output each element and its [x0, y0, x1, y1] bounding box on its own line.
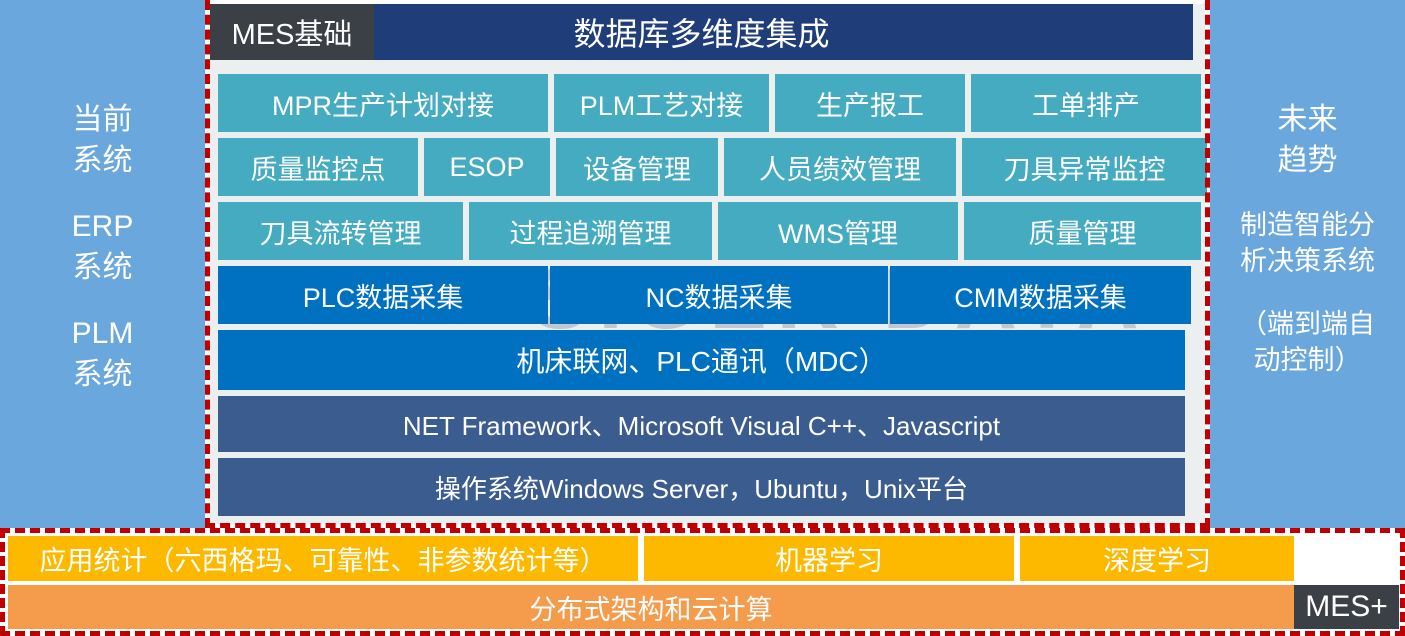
left-panel-line-3: ERP: [72, 207, 134, 248]
module-row-2: 质量监控点ESOP设备管理人员绩效管理刀具异常监控: [218, 138, 1213, 196]
right-panel-block-analysis: 制造智能分 析决策系统: [1240, 207, 1375, 280]
mes-plus-badge: MES+: [1294, 585, 1399, 629]
module-frameworks[interactable]: NET Framework、Microsoft Visual C++、Javas…: [218, 396, 1185, 452]
left-panel: 当前 系统 ERP 系统 PLM 系统: [0, 0, 205, 528]
header-band: MES基础 数据库多维度集成: [210, 4, 1193, 60]
module-row-4: PLC数据采集NC数据采集CMM数据采集: [218, 266, 1193, 324]
module-row-6: NET Framework、Microsoft Visual C++、Javas…: [218, 396, 1185, 452]
module-cell[interactable]: 刀具异常监控: [962, 138, 1207, 196]
module-cell[interactable]: 生产报工: [775, 74, 965, 132]
right-panel-line-6: 动控制）: [1240, 342, 1375, 378]
module-row-7: 操作系统Windows Server，Ubuntu，Unix平台: [218, 458, 1185, 516]
left-panel-line-2: 系统: [73, 141, 133, 182]
module-mdc[interactable]: 机床联网、PLC通讯（MDC）: [218, 330, 1185, 390]
module-cell[interactable]: 人员绩效管理: [724, 138, 956, 196]
left-panel-line-4: 系统: [72, 248, 134, 289]
module-row-5: 机床联网、PLC通讯（MDC）: [218, 330, 1185, 390]
right-panel-block-control: （端到端自 动控制）: [1240, 306, 1375, 379]
bottom-band: 应用统计（六西格玛、可靠性、非参数统计等）机器学习深度学习 分布式架构和云计算 …: [0, 528, 1405, 636]
module-cell[interactable]: 质量监控点: [218, 138, 418, 196]
module-cell[interactable]: 质量管理: [964, 202, 1201, 260]
diagram-canvas: 当前 系统 ERP 系统 PLM 系统 未来 趋势 制造智能分 析决策系统 （端…: [0, 0, 1405, 636]
module-row-1: MPR生产计划对接PLM工艺对接生产报工工单排产: [218, 74, 1207, 132]
module-cell[interactable]: 工单排产: [971, 74, 1201, 132]
right-panel-block-trend: 未来 趋势: [1278, 100, 1338, 181]
bottom-cell[interactable]: 机器学习: [644, 536, 1014, 581]
module-cell[interactable]: 刀具流转管理: [218, 202, 463, 260]
right-panel-line-5: （端到端自: [1240, 306, 1375, 342]
right-panel-line-4: 析决策系统: [1240, 243, 1375, 279]
center-stack: SIGER DATA MES基础 数据库多维度集成 MPR生产计划对接PLM工艺…: [210, 4, 1205, 524]
bottom-row-analytics: 应用统计（六西格玛、可靠性、非参数统计等）机器学习深度学习: [8, 536, 1300, 581]
bottom-cell[interactable]: 应用统计（六西格玛、可靠性、非参数统计等）: [8, 536, 638, 581]
left-panel-block-plm: PLM 系统: [72, 314, 134, 395]
bottom-cell[interactable]: 深度学习: [1020, 536, 1294, 581]
left-panel-block-current: 当前 系统: [73, 100, 133, 181]
module-cell[interactable]: 设备管理: [556, 138, 718, 196]
right-panel-line-2: 趋势: [1278, 141, 1338, 182]
right-panel-line-1: 未来: [1278, 100, 1338, 141]
bottom-row-cloud[interactable]: 分布式架构和云计算: [8, 585, 1294, 629]
module-cell[interactable]: 过程追溯管理: [469, 202, 712, 260]
right-panel: 未来 趋势 制造智能分 析决策系统 （端到端自 动控制）: [1210, 0, 1405, 528]
module-cell[interactable]: MPR生产计划对接: [218, 74, 548, 132]
module-cell[interactable]: PLC数据采集: [218, 266, 548, 324]
left-panel-line-1: 当前: [73, 100, 133, 141]
header-tag: MES基础: [210, 4, 374, 60]
right-panel-line-3: 制造智能分: [1240, 207, 1375, 243]
module-os-platform[interactable]: 操作系统Windows Server，Ubuntu，Unix平台: [218, 458, 1185, 516]
header-title: 数据库多维度集成: [374, 9, 1193, 55]
left-panel-line-5: PLM: [72, 314, 134, 355]
module-cell[interactable]: ESOP: [424, 138, 550, 196]
module-cell[interactable]: WMS管理: [718, 202, 958, 260]
left-panel-line-6: 系统: [72, 355, 134, 396]
module-cell[interactable]: PLM工艺对接: [554, 74, 769, 132]
module-cell[interactable]: CMM数据采集: [890, 266, 1191, 324]
left-panel-block-erp: ERP 系统: [72, 207, 134, 288]
module-cell[interactable]: NC数据采集: [550, 266, 888, 324]
module-row-3: 刀具流转管理过程追溯管理WMS管理质量管理: [218, 202, 1207, 260]
